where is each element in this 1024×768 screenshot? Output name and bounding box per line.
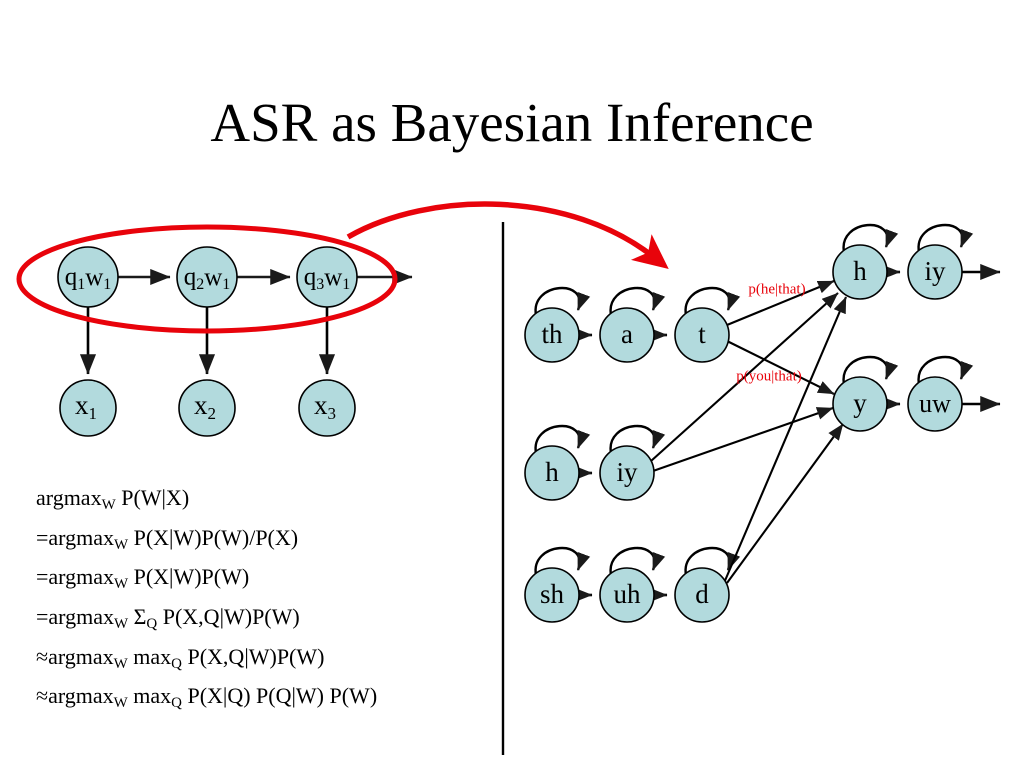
phone-node-uh[interactable]: uh [600, 568, 654, 622]
state-node-q3w1[interactable]: q3w1 [297, 247, 357, 307]
observation-node-x2[interactable]: x2 [179, 380, 235, 436]
slide-canvas: ASR as Bayesian Inference [0, 0, 1024, 768]
phone-network: th a t h iy sh [525, 225, 1000, 622]
phone-node-th[interactable]: th [525, 308, 579, 362]
state-node-q1w1[interactable]: q1w1 [58, 247, 118, 307]
state-node-q2w1[interactable]: q2w1 [177, 247, 237, 307]
phone-node-iy-left-label: iy [616, 457, 638, 487]
transition-label-p-he-given-that: p(he|that) [748, 281, 805, 297]
edge-d-y [727, 424, 843, 583]
bayes-equation-block: argmaxW P(W|X) =argmaxW P(X|W)P(W)/P(X) … [36, 482, 506, 720]
phone-node-h-right[interactable]: h [833, 245, 887, 299]
equation-line-5: ≈argmaxW maxQ P(X,Q|W)P(W) [36, 641, 506, 681]
phone-node-y-label: y [853, 388, 867, 418]
phone-node-t[interactable]: t [675, 308, 729, 362]
transition-label-p-you-given-that: p(you|that) [736, 368, 802, 384]
phone-node-h-left-label: h [545, 457, 559, 487]
equation-line-2: =argmaxW P(X|W)P(W)/P(X) [36, 522, 506, 562]
phone-node-h-left[interactable]: h [525, 446, 579, 500]
phone-node-iy-right[interactable]: iy [908, 245, 962, 299]
observation-node-x3[interactable]: x3 [299, 380, 355, 436]
phone-node-iy-left[interactable]: iy [600, 446, 654, 500]
equation-line-6: ≈argmaxW maxQ P(X|Q) P(Q|W) P(W) [36, 680, 506, 720]
phone-node-uw[interactable]: uw [908, 377, 962, 431]
phone-node-iy-right-label: iy [924, 256, 946, 286]
observation-node-x1[interactable]: x1 [60, 380, 116, 436]
phone-node-a[interactable]: a [600, 308, 654, 362]
phone-node-a-label: a [621, 319, 633, 349]
phone-node-sh-label: sh [540, 579, 565, 609]
hmm-word-model: q1w1 q2w1 q3w1 x1 [19, 227, 412, 436]
phone-node-d[interactable]: d [675, 568, 729, 622]
phone-node-th-label: th [541, 319, 563, 349]
phone-node-uw-label: uw [919, 389, 951, 418]
phone-node-h-right-label: h [853, 256, 867, 286]
phone-node-y[interactable]: y [833, 377, 887, 431]
phone-node-t-label: t [698, 319, 706, 349]
phone-node-d-label: d [695, 579, 709, 609]
equation-line-1: argmaxW P(W|X) [36, 482, 506, 522]
callout-arrow [348, 204, 655, 258]
equation-line-3: =argmaxW P(X|W)P(W) [36, 561, 506, 601]
equation-line-4: =argmaxW ΣQ P(X,Q|W)P(W) [36, 601, 506, 641]
phone-node-uh-label: uh [614, 579, 642, 609]
edge-iyleft-y [653, 408, 833, 471]
phone-node-sh[interactable]: sh [525, 568, 579, 622]
